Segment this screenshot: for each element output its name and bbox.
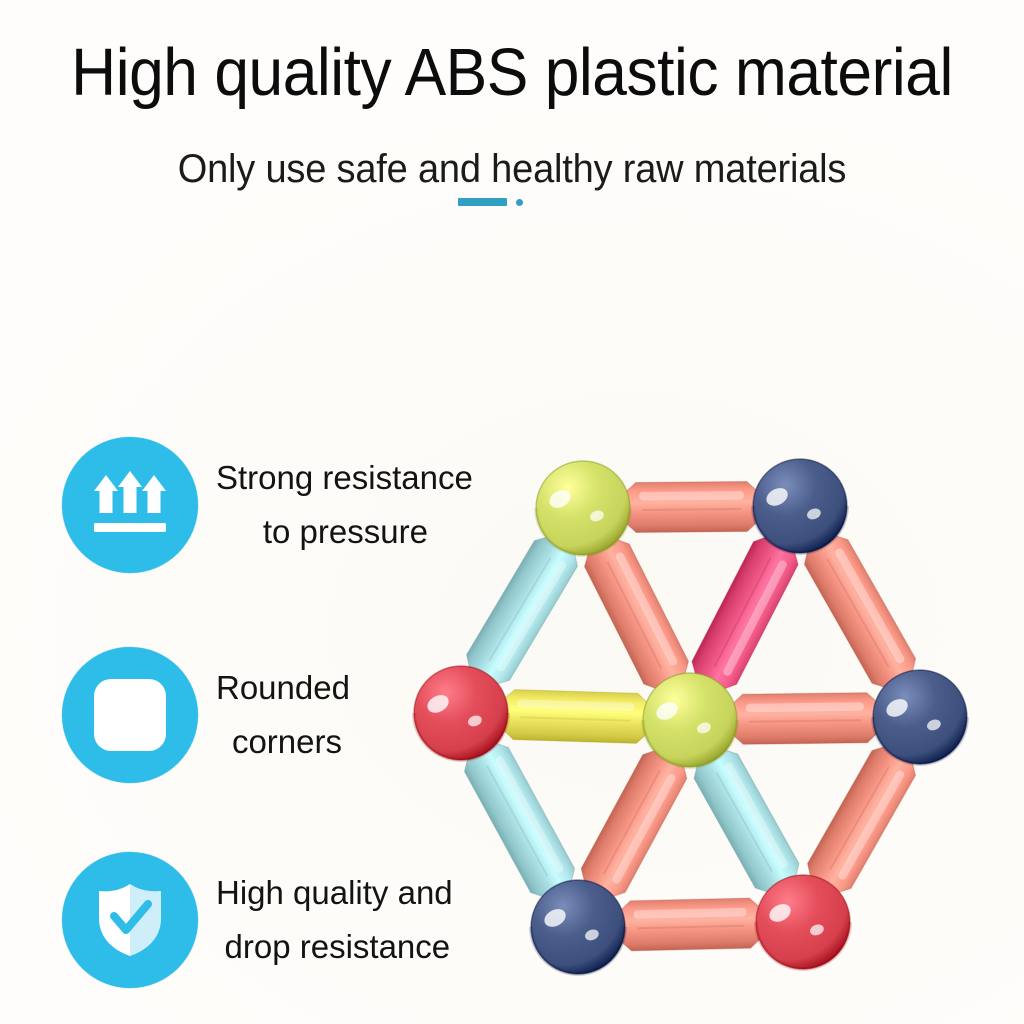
feature-label-line-2: corners [216, 715, 350, 769]
rod [579, 532, 695, 695]
arrows-up-over-bar-icon [88, 467, 172, 543]
rod [686, 530, 804, 696]
feature-label: Rounded corners [216, 661, 350, 769]
ball [753, 459, 847, 553]
rod [730, 693, 881, 745]
rod [575, 743, 693, 903]
rod [458, 736, 580, 904]
ball [643, 673, 737, 767]
feature-badge [62, 852, 198, 988]
ball [756, 875, 850, 969]
feature-label-line-1: Rounded [216, 661, 350, 715]
rod [801, 739, 922, 899]
product-feature-page: High quality ABS plastic material Only u… [0, 0, 1024, 1024]
feature-badge [62, 437, 198, 573]
rod [798, 528, 922, 694]
ball [531, 880, 625, 974]
feature-item-rounded-corners: Rounded corners [62, 647, 350, 783]
ball [536, 461, 630, 555]
product-illustration [378, 432, 1002, 1002]
ball [873, 670, 967, 764]
shield-check-icon [94, 880, 166, 960]
rod [623, 481, 760, 532]
rod [500, 689, 651, 744]
rod [617, 898, 763, 951]
ball [414, 666, 508, 760]
balls-group [414, 459, 967, 974]
feature-badge [62, 647, 198, 783]
rounded-square-icon [92, 677, 168, 753]
product-image-magnetic-sticks [378, 432, 1002, 1002]
